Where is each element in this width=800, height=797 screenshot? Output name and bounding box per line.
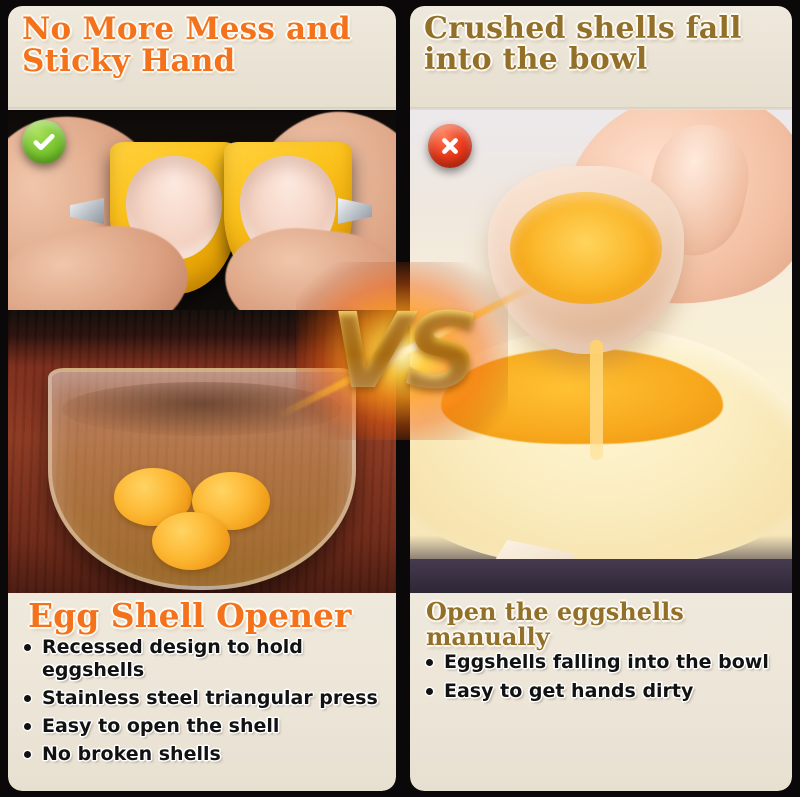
- right-header-title: Crushed shells fall into the bowl: [410, 12, 792, 75]
- egg-yolk: [152, 512, 230, 570]
- list-item: Eggshells falling into the bowl: [424, 651, 782, 674]
- right-panel: Crushed shells fall into the bowl: [410, 6, 792, 791]
- list-item: Easy to open the shell: [22, 715, 386, 738]
- bowl-rim: [410, 559, 792, 593]
- cracked-eggshell: [488, 166, 684, 354]
- left-text-card: Egg Shell Opener Recessed design to hold…: [8, 593, 396, 791]
- left-photo-area: [8, 110, 396, 593]
- left-feature-list: Recessed design to hold eggshells Stainl…: [22, 636, 386, 767]
- left-photo-bowl: [8, 310, 396, 593]
- left-header-card: No More Mess and Sticky Hand: [8, 6, 396, 110]
- list-item: Recessed design to hold eggshells: [22, 636, 386, 682]
- list-item: No broken shells: [22, 743, 386, 766]
- comparison-infographic: No More Mess and Sticky Hand: [0, 0, 800, 797]
- left-photo-product: [8, 110, 396, 325]
- left-header-title: No More Mess and Sticky Hand: [8, 12, 396, 77]
- right-text-card: Open the eggshells manually Eggshells fa…: [410, 593, 792, 791]
- right-header-card: Crushed shells fall into the bowl: [410, 6, 792, 110]
- right-drawback-list: Eggshells falling into the bowl Easy to …: [424, 651, 782, 702]
- right-photo-area: [410, 110, 792, 593]
- list-item: Easy to get hands dirty: [424, 680, 782, 703]
- list-item: Stainless steel triangular press: [22, 687, 386, 710]
- right-subtitle: Open the eggshells manually: [424, 599, 782, 649]
- left-panel: No More Mess and Sticky Hand: [8, 6, 396, 791]
- check-icon: [22, 120, 66, 164]
- egg-drip: [590, 340, 603, 460]
- cross-icon: [428, 124, 472, 168]
- left-subtitle: Egg Shell Opener: [22, 599, 386, 634]
- right-photo-manual-cracking: [410, 110, 792, 593]
